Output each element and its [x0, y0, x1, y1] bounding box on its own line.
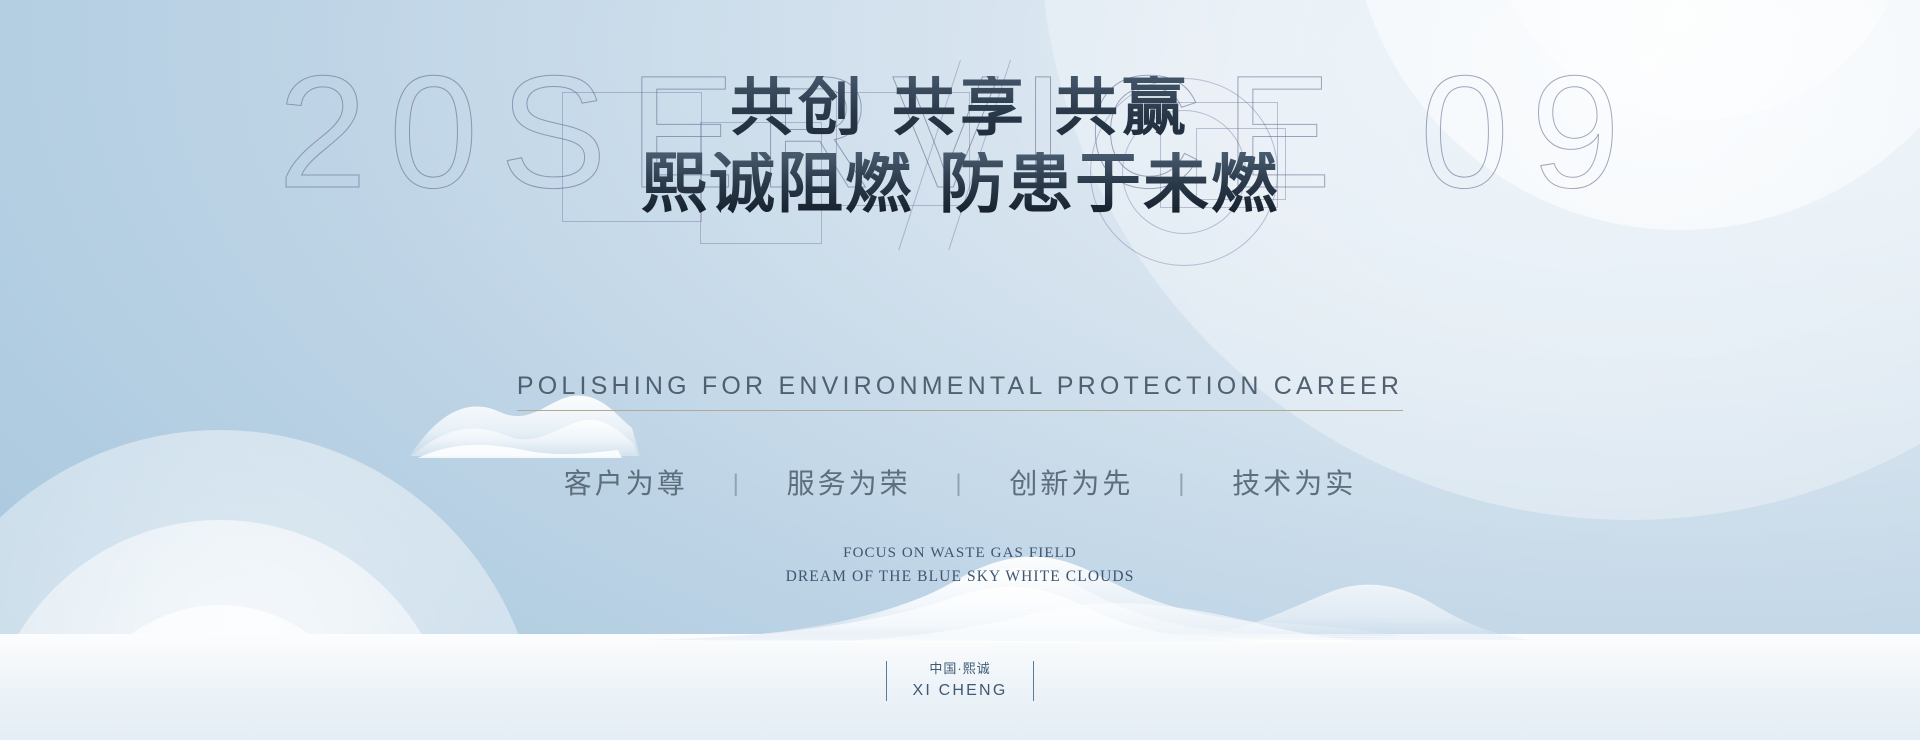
slogan-block: FOCUS ON WASTE GAS FIELD DREAM OF THE BL… [0, 542, 1920, 589]
subtitle-text: POLISHING FOR ENVIRONMENTAL PROTECTION C… [517, 372, 1403, 411]
footer-brand-en: XI CHENG [913, 680, 1008, 702]
value-separator-3: | [1178, 470, 1187, 498]
value-item-2: 服务为荣 [787, 462, 911, 502]
headline-line-2-wrap: 熙诚阻燃防患于未燃 [0, 140, 1920, 218]
slogan-line-1: FOCUS ON WASTE GAS FIELD [0, 542, 1920, 565]
value-item-1: 客户为尊 [564, 462, 688, 502]
value-item-3: 创新为先 [1009, 462, 1133, 502]
value-separator-1: | [733, 470, 742, 498]
value-separator-2: | [955, 470, 964, 498]
headline-2-part-2: 防患于未燃 [939, 148, 1279, 221]
headline-1-part-1: 共创 [730, 72, 866, 143]
headline-block: 共创共享共赢 熙诚阻燃防患于未燃 [0, 76, 1920, 218]
headline-2-part-1: 熙诚阻燃 [641, 148, 913, 221]
headline-line-2: 熙诚阻燃防患于未燃 [641, 152, 1279, 218]
footer-rule-right [1033, 661, 1034, 701]
footer-text: 中国·熙诚 XI CHENG [913, 660, 1008, 701]
subtitle-row: POLISHING FOR ENVIRONMENTAL PROTECTION C… [0, 372, 1920, 411]
values-row: 客户为尊 | 服务为荣 | 创新为先 | 技术为实 [0, 462, 1920, 502]
footer-rule-left [886, 661, 887, 701]
headline-line-1: 共创共享共赢 [730, 76, 1190, 140]
footer-logo: 中国·熙诚 XI CHENG [0, 660, 1920, 701]
footer-brand-cn: 中国·熙诚 [913, 660, 1008, 678]
banner-stage: 20SERVICE 09 共创共享共赢 熙诚阻燃防患于未燃 POLISHING … [0, 0, 1920, 740]
slogan-line-2: DREAM OF THE BLUE SKY WHITE CLOUDS [0, 565, 1920, 589]
headline-line-1-wrap: 共创共享共赢 [0, 76, 1920, 140]
headline-1-part-2: 共享 [892, 72, 1028, 143]
headline-1-part-3: 共赢 [1054, 72, 1190, 143]
value-item-4: 技术为实 [1232, 462, 1356, 502]
